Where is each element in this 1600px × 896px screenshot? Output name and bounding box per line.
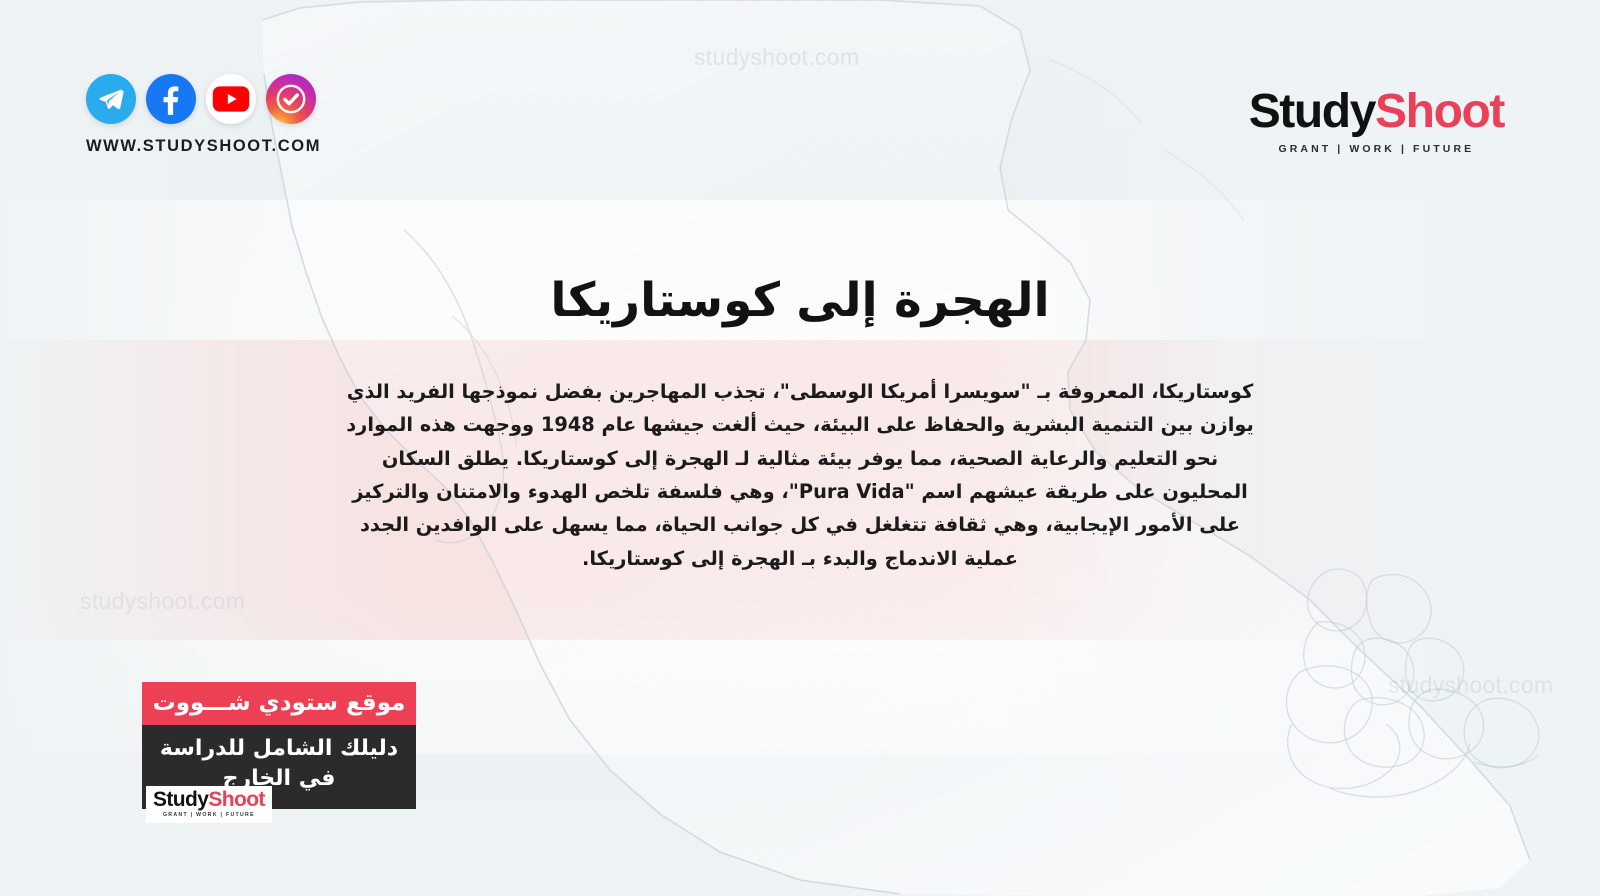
page-title: الهجرة إلى كوستاريكا	[340, 272, 1260, 331]
youtube-icon[interactable]	[206, 74, 256, 124]
watermark-top: studyshoot.com	[694, 44, 859, 71]
badge-brand-word-shoot: Shoot	[208, 788, 264, 811]
social-links-block: WWW.STUDYSHOOT.COM	[86, 74, 321, 156]
brand-word-shoot: Shoot	[1375, 85, 1504, 138]
brand-wordmark: StudyShoot	[1249, 88, 1504, 136]
badge-brand-logo: StudyShoot GRANT | WORK | FUTURE	[146, 786, 272, 823]
brand-tagline: GRANT | WORK | FUTURE	[1249, 143, 1504, 155]
watermark-left: studyshoot.com	[80, 588, 245, 615]
facebook-icon[interactable]	[146, 74, 196, 124]
badge-brand-word-study: Study	[153, 788, 208, 811]
instagram-check-icon[interactable]	[266, 74, 316, 124]
badge-subtitle-text: دليلك الشامل للدراسة في الخارج	[160, 736, 398, 791]
badge-subtitle-bar: دليلك الشامل للدراسة في الخارج StudyShoo…	[142, 725, 416, 809]
main-content: الهجرة إلى كوستاريكا كوستاريكا، المعروفة…	[340, 272, 1260, 575]
social-icon-row	[86, 74, 321, 124]
brand-logo: StudyShoot GRANT | WORK | FUTURE	[1249, 88, 1504, 155]
badge-brand-wordmark: StudyShoot	[153, 789, 265, 810]
watermark-right: studyshoot.com	[1388, 672, 1553, 699]
site-url-text: WWW.STUDYSHOOT.COM	[86, 137, 321, 156]
body-paragraph: كوستاريكا، المعروفة بـ "سويسرا أمريكا ال…	[340, 375, 1260, 575]
telegram-icon[interactable]	[86, 74, 136, 124]
badge-brand-tagline: GRANT | WORK | FUTURE	[153, 812, 265, 819]
badge-title-bar: موقع ستودي شـــووت	[142, 682, 416, 725]
bottom-badge: موقع ستودي شـــووت دليلك الشامل للدراسة …	[142, 682, 416, 809]
poster-canvas: studyshoot.com studyshoot.com studyshoot…	[0, 0, 1600, 896]
brand-word-study: Study	[1249, 85, 1375, 138]
